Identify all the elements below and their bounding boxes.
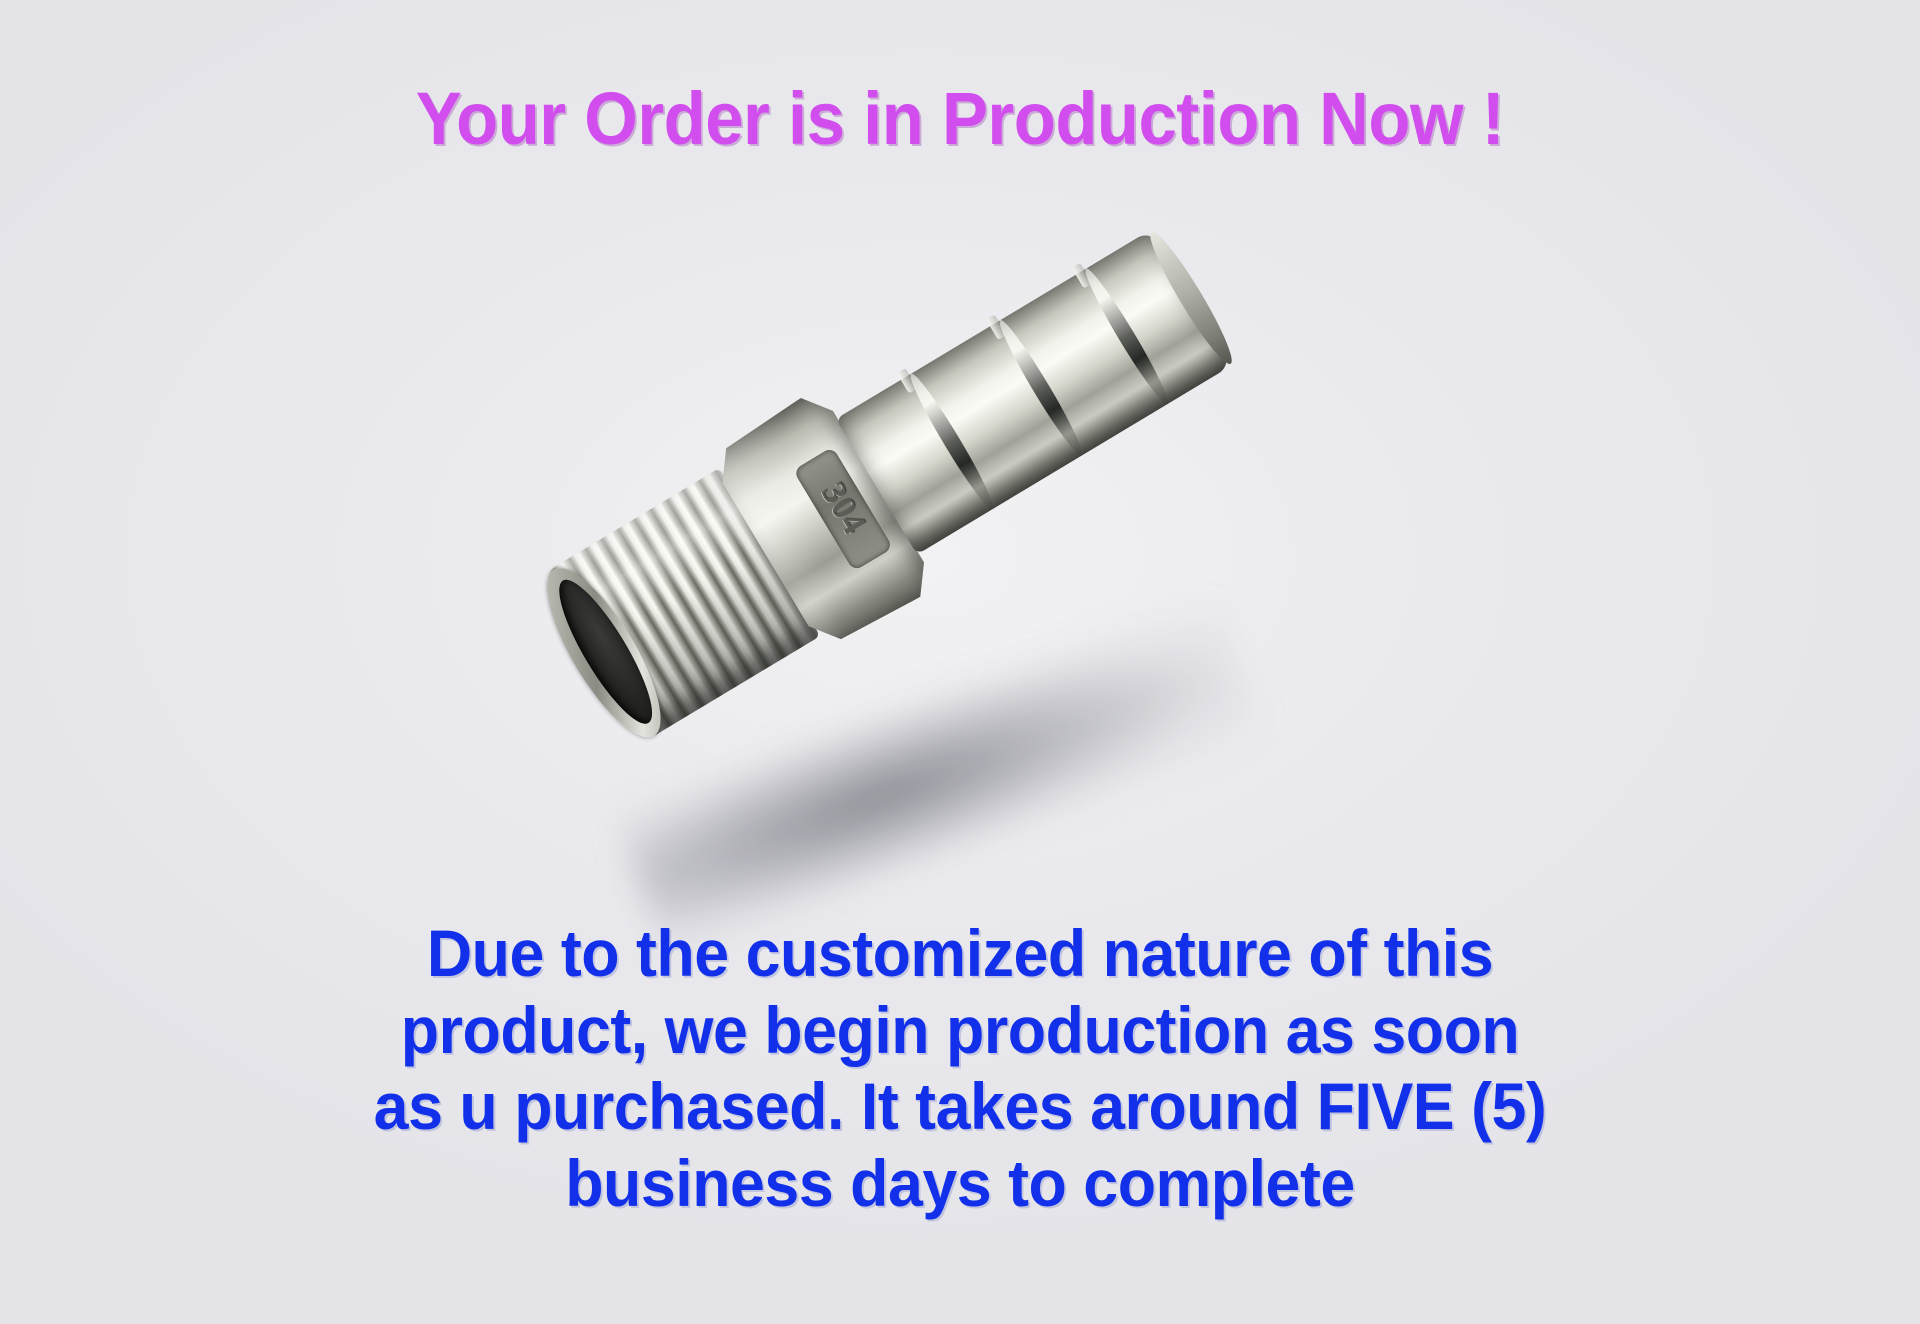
material-stamp: 304 — [793, 447, 893, 572]
barb-ring — [904, 370, 999, 514]
barb-step — [897, 368, 918, 394]
hex-flange-highlight — [706, 387, 939, 654]
barb-end-cap — [1142, 226, 1240, 369]
hose-barb-fitting: 304 — [454, 56, 1433, 902]
thread-highlight — [544, 468, 821, 742]
notice-line-2: product, we begin production as soon — [48, 992, 1872, 1069]
barb-ring — [993, 316, 1088, 460]
barb-step — [986, 314, 1007, 340]
threaded-male-end — [544, 468, 821, 742]
barbed-end — [836, 230, 1233, 555]
notice-line-1: Due to the customized nature of this — [48, 915, 1872, 992]
promotional-banner: Your Order is in Production Now ! 304 — [0, 0, 1920, 1324]
hex-flange — [706, 387, 939, 654]
barb-ring — [1079, 265, 1174, 409]
product-shadow — [614, 595, 1267, 955]
notice-line-4: business days to complete — [48, 1145, 1872, 1222]
barb-step — [1072, 263, 1093, 289]
production-notice: Due to the customized nature of this pro… — [48, 915, 1872, 1221]
material-stamp-text: 304 — [813, 476, 873, 542]
notice-line-3: as u purchased. It takes around FIVE (5) — [48, 1068, 1872, 1145]
bore-opening — [545, 570, 666, 734]
page-title: Your Order is in Production Now ! — [67, 76, 1853, 161]
bore-rim — [527, 554, 680, 752]
